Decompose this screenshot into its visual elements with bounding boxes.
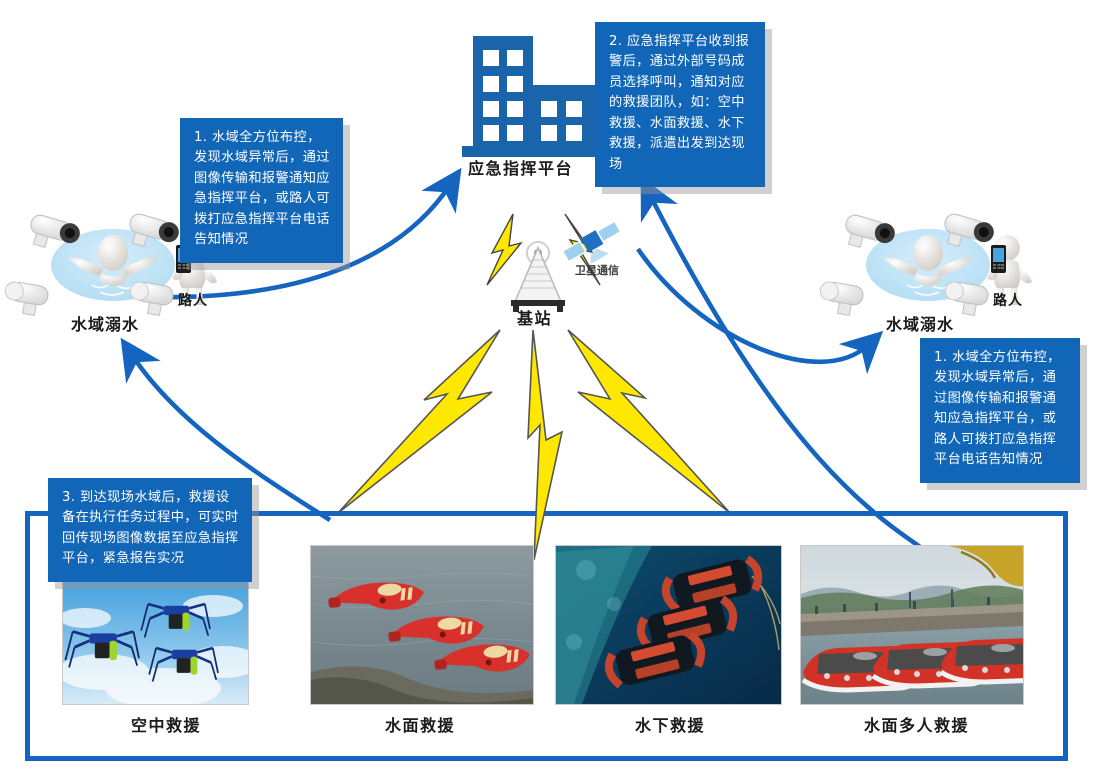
passerby-right-label: 路人 (993, 290, 1023, 310)
caption-multi-person-rescue: 水面多人救援 (864, 712, 969, 736)
note-step-3-bottom: 3. 到达现场水域后，救援设备在执行任务过程中，可实时回传现场图像数据至应急指挥… (48, 478, 252, 582)
note-step-1-left: 1. 水域全方位布控，发现水域异常后，通过图像传输和报警通知应急指挥平台，或路人… (180, 118, 343, 263)
drowning-right-label: 水域溺水 (886, 311, 954, 335)
caption-underwater-rescue: 水下救援 (635, 712, 705, 736)
cell-tower-icon (511, 242, 565, 312)
satellite-comm-label: 卫星通信 (575, 262, 619, 278)
drowning-left-label: 水域溺水 (71, 311, 139, 335)
cctv-camera-icon-right-3 (817, 280, 865, 317)
note-step-2-top: 2. 应急指挥平台收到报警后，通过外部号码成员选择呼叫，通知对应的救援团队，如：… (595, 22, 765, 187)
diagram-canvas: 应急指挥平台 基站 卫星通信 水域溺水 路人 水域溺水 路人 (0, 0, 1100, 770)
note-step-1-right: 1. 水域全方位布控，发现水域异常后，通过图像传输和报警通知应急指挥平台，或路人… (920, 338, 1080, 483)
base-station-label: 基站 (517, 305, 552, 329)
caption-aerial-rescue: 空中救援 (131, 712, 201, 736)
caption-surface-rescue: 水面救援 (385, 712, 455, 736)
office-building-icon (462, 36, 606, 157)
passerby-left-label: 路人 (178, 290, 208, 310)
cctv-camera-icon-left-3 (2, 280, 50, 317)
command-platform-label: 应急指挥平台 (468, 155, 573, 179)
